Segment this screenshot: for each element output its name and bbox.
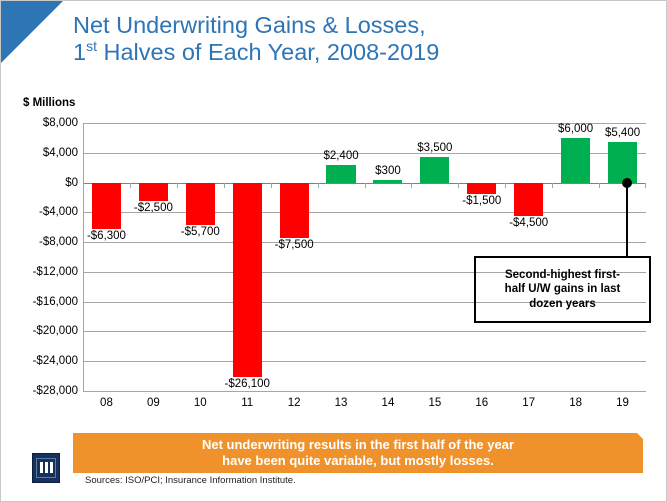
x-axis-label-13: 13: [335, 397, 348, 409]
y-axis-tick-label: -$8,000: [39, 236, 78, 248]
y-axis-tick-label: $4,000: [43, 147, 78, 159]
banner-line-2: have been quite variable, but mostly los…: [202, 453, 514, 469]
page-title: Net Underwriting Gains & Losses, 1st Hal…: [73, 12, 643, 66]
x-axis-tick: [458, 183, 459, 188]
bar-value-label-18: $6,000: [558, 123, 593, 135]
y-axis-tick-label: -$12,000: [33, 266, 78, 278]
bar-11[interactable]: [233, 183, 262, 377]
callout-annotation: Second-highest first- half U/W gains in …: [474, 256, 651, 323]
x-axis-label-18: 18: [569, 397, 582, 409]
logo-inner-frame: [36, 458, 56, 478]
y-axis-tick-label: -$16,000: [33, 296, 78, 308]
title-ordinal-suffix: st: [86, 38, 97, 54]
bar-value-label-19: $5,400: [605, 127, 640, 139]
y-axis-tick-labels: $8,000$4,000$0-$4,000-$8,000-$12,000-$16…: [1, 123, 83, 391]
y-axis-tick-label: $8,000: [43, 117, 78, 129]
bar-16[interactable]: [467, 183, 496, 194]
summary-banner: Net underwriting results in the first ha…: [73, 433, 643, 473]
callout-line-2: half U/W gains in last: [505, 282, 621, 297]
iii-logo: [32, 453, 60, 483]
x-axis-label-11: 11: [241, 397, 253, 409]
callout-line-1: Second-highest first-: [505, 268, 621, 283]
y-axis-tick-label: -$20,000: [33, 325, 78, 337]
bar-value-label-15: $3,500: [417, 142, 452, 154]
bar-09[interactable]: [139, 183, 168, 202]
bar-value-label-10: -$5,700: [181, 226, 220, 238]
x-axis-tick: [177, 183, 178, 188]
bar-17[interactable]: [514, 183, 543, 217]
x-axis-tick: [83, 183, 84, 188]
bar-value-label-09: -$2,500: [134, 202, 173, 214]
x-axis-label-16: 16: [475, 397, 488, 409]
x-axis-tick: [599, 183, 600, 188]
x-axis-label-10: 10: [194, 397, 207, 409]
bar-value-label-16: -$1,500: [462, 195, 501, 207]
logo-bar-3: [50, 462, 53, 473]
summary-banner-text: Net underwriting results in the first ha…: [202, 437, 514, 469]
title-line-1: Net Underwriting Gains & Losses,: [73, 12, 643, 39]
bar-value-label-13: $2,400: [323, 150, 358, 162]
x-axis-label-09: 09: [147, 397, 160, 409]
bar-value-label-08: -$6,300: [87, 230, 126, 242]
x-axis-tick: [552, 183, 553, 188]
x-axis-label-19: 19: [616, 397, 629, 409]
y-axis-tick-label: -$28,000: [33, 385, 78, 397]
bar-value-label-17: -$4,500: [509, 217, 548, 229]
title-line-2-rest: Halves of Each Year, 2008-2019: [97, 39, 439, 65]
x-axis-tick: [411, 183, 412, 188]
title-line-2-prefix: 1: [73, 39, 86, 65]
x-axis-tick: [318, 183, 319, 188]
x-axis-tick: [271, 183, 272, 188]
bar-value-label-14: $300: [375, 165, 401, 177]
logo-bar-1: [40, 462, 43, 473]
x-axis-label-15: 15: [428, 397, 441, 409]
x-axis-label-17: 17: [522, 397, 535, 409]
y-axis-line: [83, 123, 84, 391]
gridline: [83, 242, 646, 243]
corner-accent-triangle: [1, 1, 63, 63]
bar-19[interactable]: [608, 142, 637, 182]
bar-13[interactable]: [326, 165, 355, 183]
x-axis-tick: [130, 183, 131, 188]
bar-value-label-11: -$26,100: [225, 378, 270, 390]
logo-bar-2: [45, 462, 48, 473]
slide-canvas: Net Underwriting Gains & Losses, 1st Hal…: [0, 0, 667, 502]
banner-line-1: Net underwriting results in the first ha…: [202, 437, 514, 453]
bar-10[interactable]: [186, 183, 215, 225]
x-axis-tick: [505, 183, 506, 188]
title-line-2: 1st Halves of Each Year, 2008-2019: [73, 39, 643, 66]
gridline: [83, 331, 646, 332]
x-axis-tick: [645, 183, 646, 188]
x-axis-tick: [224, 183, 225, 188]
bar-14[interactable]: [373, 180, 402, 182]
bar-12[interactable]: [280, 183, 309, 239]
x-axis-label-12: 12: [288, 397, 301, 409]
x-axis-label-14: 14: [382, 397, 395, 409]
bar-18[interactable]: [561, 138, 590, 183]
gridline: [83, 361, 646, 362]
y-axis-tick-label: $0: [65, 177, 78, 189]
y-axis-tick-label: -$4,000: [39, 206, 78, 218]
y-axis-tick-label: -$24,000: [33, 355, 78, 367]
callout-leader-line: [626, 183, 628, 257]
sources-note: Sources: ISO/PCI; Insurance Information …: [85, 475, 296, 486]
x-axis-label-08: 08: [100, 397, 113, 409]
x-axis-tick: [365, 183, 366, 188]
callout-text: Second-highest first- half U/W gains in …: [499, 268, 627, 312]
bar-value-label-12: -$7,500: [275, 239, 314, 251]
bar-08[interactable]: [92, 183, 121, 230]
y-axis-unit-label: $ Millions: [23, 97, 75, 109]
x-axis-tick-labels: 080910111213141516171819: [83, 397, 646, 419]
callout-line-3: dozen years: [505, 297, 621, 312]
gridline: [83, 391, 646, 392]
bar-15[interactable]: [420, 157, 449, 183]
